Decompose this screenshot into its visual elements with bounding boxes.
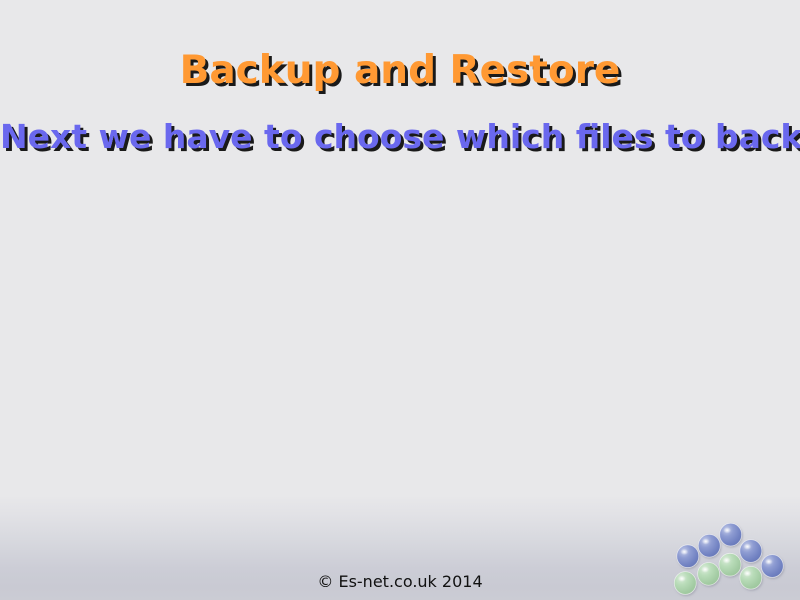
presentation-slide: Backup and Restore Next we have to choos…: [0, 0, 800, 600]
subtitle-placeholder: Next we have to choose which files to ba…: [0, 117, 800, 157]
copyright-text: © Es-net.co.uk 2014: [317, 572, 482, 591]
title-placeholder: Backup and Restore: [0, 48, 800, 94]
slide-title: Backup and Restore: [0, 48, 800, 94]
slide-content-body: [40, 175, 760, 475]
slide-subtitle: Next we have to choose which files to ba…: [0, 117, 800, 157]
slide-footer: © Es-net.co.uk 2014: [0, 572, 800, 592]
